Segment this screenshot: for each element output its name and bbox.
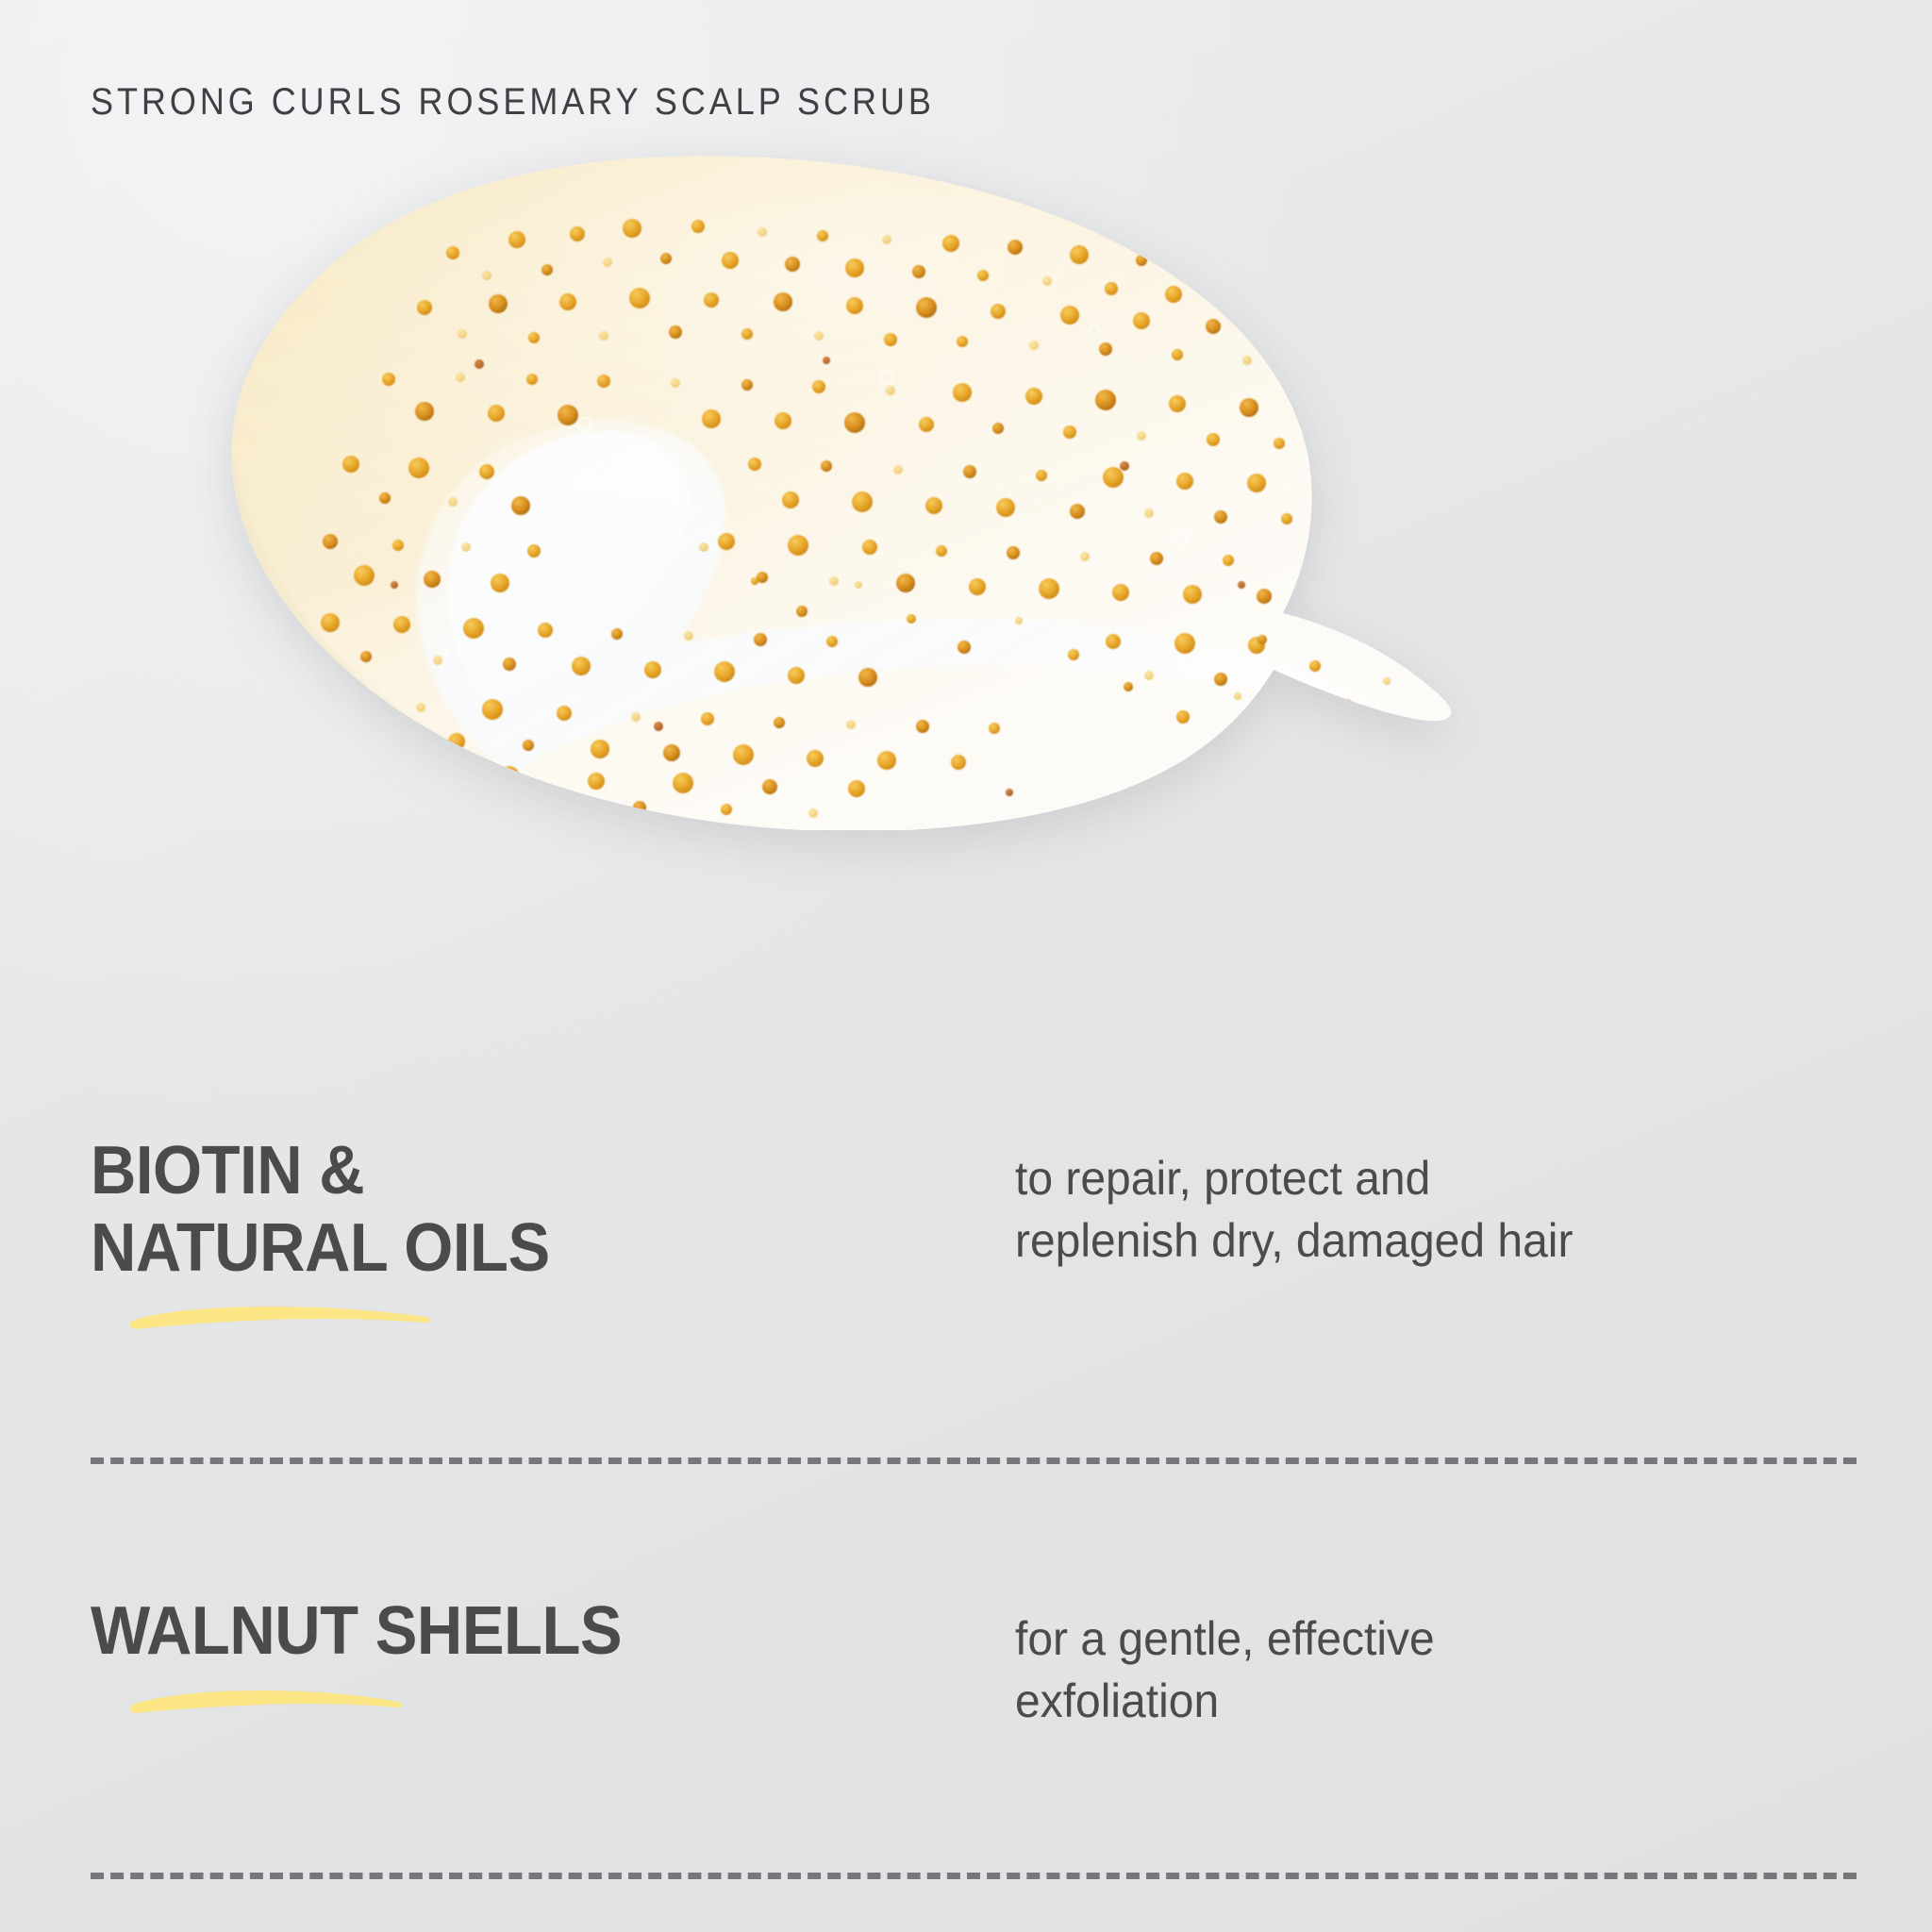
ingredient-benefit: for a gentle, effective exfoliation [1015, 1592, 1823, 1732]
ingredient-benefit: to repair, protect and replenish dry, da… [1015, 1132, 1823, 1272]
section-divider [91, 1457, 1857, 1464]
section-divider [91, 1873, 1857, 1879]
ingredient-row-biotin: BIOTIN & NATURAL OILS to repair, protect… [91, 1132, 1857, 1332]
yellow-underline-brush-icon [126, 1683, 409, 1715]
ingredient-name-block: WALNUT SHELLS [91, 1592, 1015, 1715]
scrub-texture-illustration [142, 142, 1783, 830]
ingredient-name: BIOTIN & NATURAL OILS [91, 1132, 950, 1287]
ingredient-name-block: BIOTIN & NATURAL OILS [91, 1132, 1015, 1332]
ingredient-row-walnut: WALNUT SHELLS for a gentle, effective ex… [91, 1592, 1857, 1732]
page-title: STRONG CURLS ROSEMARY SCALP SCRUB [91, 79, 935, 125]
ingredient-name: WALNUT SHELLS [91, 1592, 950, 1670]
hero-swatch-image [142, 142, 1783, 830]
product-infographic: STRONG CURLS ROSEMARY SCALP SCRUB [0, 0, 1932, 1932]
yellow-underline-brush-icon [126, 1300, 438, 1332]
